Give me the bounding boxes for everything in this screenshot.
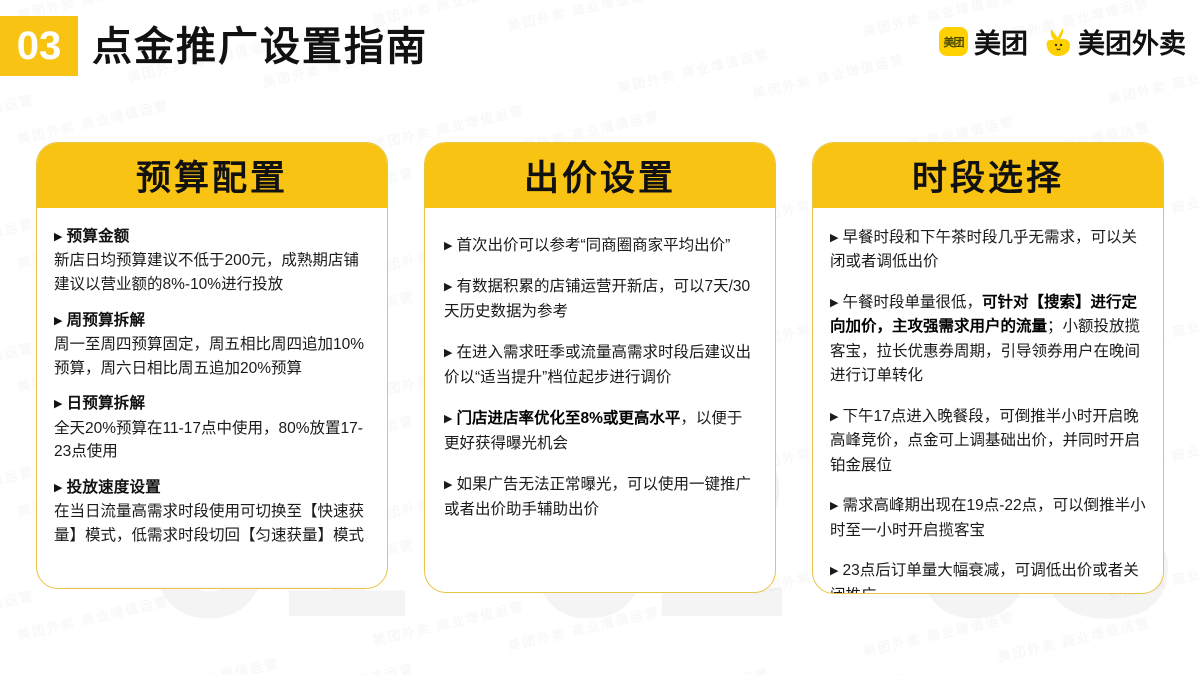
paragraph-text: 如果广告无法正常曝光，可以使用一键推广或者出价助手辅助出价 — [444, 476, 751, 517]
block-heading: ▶投放速度设置 — [54, 477, 370, 499]
block-heading: ▶周预算拆解 — [54, 310, 370, 332]
list-item: ▶早餐时段和下午茶时段几乎无需求，可以关闭或者调低出价 — [830, 226, 1146, 275]
paragraph-text-before: 午餐时段单量很低， — [842, 294, 982, 311]
paragraph-text: 首次出价可以参考“同商圈商家平均出价” — [456, 237, 730, 254]
bullet-triangle-icon: ▶ — [830, 297, 838, 309]
list-item: ▶午餐时段单量很低，可针对【搜索】进行定向加价，主攻强需求用户的流量；小额投放揽… — [830, 291, 1146, 389]
list-item: ▶如果广告无法正常曝光，可以使用一键推广或者出价助手辅助出价 — [444, 473, 756, 522]
list-item: ▶23点后订单量大幅衰减，可调低出价或者关闭推广 — [830, 559, 1146, 594]
list-item: ▶首次出价可以参考“同商圈商家平均出价” — [444, 234, 756, 258]
block-text: 在当日流量高需求时段使用可切换至【快速获量】模式，低需求时段切回【匀速获量】模式 — [54, 500, 370, 547]
list-item: ▶有数据积累的店铺运营开新店，可以7天/30天历史数据为参考 — [444, 275, 756, 324]
card-body: ▶预算金额 新店日均预算建议不低于200元，成熟期店铺建议以营业额的8%-10%… — [37, 208, 387, 557]
list-item: ▶在进入需求旺季或流量高需求时段后建议出价以“适当提升”档位起步进行调价 — [444, 341, 756, 390]
bullet-triangle-icon: ▶ — [54, 231, 63, 243]
bullet-triangle-icon: ▶ — [444, 281, 452, 293]
block-heading: ▶日预算拆解 — [54, 393, 370, 415]
bullet-triangle-icon: ▶ — [54, 398, 63, 410]
list-item: ▶预算金额 新店日均预算建议不低于200元，成熟期店铺建议以营业额的8%-10%… — [54, 226, 370, 297]
meituan-app-icon: 美团 — [939, 27, 968, 56]
card-title: 预算配置 — [136, 150, 288, 201]
block-text: 新店日均预算建议不低于200元，成熟期店铺建议以营业额的8%-10%进行投放 — [54, 249, 370, 296]
paragraph-text: 有数据积累的店铺运营开新店，可以7天/30天历史数据为参考 — [444, 278, 750, 319]
bullet-triangle-icon: ▶ — [444, 240, 452, 252]
meituan-logo: 美团 美团 — [939, 22, 1028, 61]
bullet-triangle-icon: ▶ — [54, 482, 63, 494]
meituan-app-icon-label: 美团 — [944, 34, 964, 50]
card-header: 预算配置 — [36, 142, 388, 208]
page-title: 点金推广设置指南 — [92, 18, 428, 76]
card-title: 时段选择 — [912, 150, 1064, 201]
bullet-triangle-icon: ▶ — [830, 500, 838, 512]
card-header: 时段选择 — [812, 142, 1164, 208]
paragraph-text: 23点后订单量大幅衰减，可调低出价或者关闭推广 — [830, 562, 1139, 594]
bullet-triangle-icon: ▶ — [830, 232, 838, 244]
card-body: ▶首次出价可以参考“同商圈商家平均出价” ▶有数据积累的店铺运营开新店，可以7天… — [425, 208, 775, 532]
list-item: ▶需求高峰期出现在19点-22点，可以倒推半小时至一小时开启揽客宝 — [830, 494, 1146, 543]
bullet-triangle-icon: ▶ — [830, 411, 838, 423]
card-time-slot-selection: 时段选择 ▶早餐时段和下午茶时段几乎无需求，可以关闭或者调低出价 ▶午餐时段单量… — [812, 142, 1164, 594]
meituan-waimai-logo: 美团外卖 — [1046, 22, 1186, 61]
card-body: ▶早餐时段和下午茶时段几乎无需求，可以关闭或者调低出价 ▶午餐时段单量很低，可针… — [813, 208, 1163, 594]
brand-logos: 美团 美团 美团外卖 — [939, 22, 1186, 61]
meituan-waimai-wordmark: 美团外卖 — [1078, 22, 1186, 61]
block-text: 周一至周四预算固定，周五相比周四追加10%预算，周六日相比周五追加20%预算 — [54, 333, 370, 380]
kangaroo-mascot-icon — [1046, 27, 1072, 57]
paragraph-bold: 门店进店率优化至8%或更高水平 — [456, 410, 680, 427]
bullet-triangle-icon: ▶ — [830, 565, 838, 577]
list-item: ▶周预算拆解 周一至周四预算固定，周五相比周四追加10%预算，周六日相比周五追加… — [54, 310, 370, 381]
card-bid-settings: 出价设置 ▶首次出价可以参考“同商圈商家平均出价” ▶有数据积累的店铺运营开新店… — [424, 142, 776, 593]
bullet-triangle-icon: ▶ — [444, 413, 452, 425]
list-item: ▶投放速度设置 在当日流量高需求时段使用可切换至【快速获量】模式，低需求时段切回… — [54, 477, 370, 548]
bullet-triangle-icon: ▶ — [444, 347, 452, 359]
meituan-wordmark: 美团 — [974, 22, 1028, 61]
section-number-badge: 03 — [0, 16, 78, 76]
list-item: ▶下午17点进入晚餐段，可倒推半小时开启晚高峰竞价，点金可上调基础出价，并同时开… — [830, 405, 1146, 478]
card-budget-configuration: 预算配置 ▶预算金额 新店日均预算建议不低于200元，成熟期店铺建议以营业额的8… — [36, 142, 388, 589]
bullet-triangle-icon: ▶ — [444, 479, 452, 491]
paragraph-text: 下午17点进入晚餐段，可倒推半小时开启晚高峰竞价，点金可上调基础出价，并同时开启… — [830, 408, 1140, 474]
paragraph-text: 早餐时段和下午茶时段几乎无需求，可以关闭或者调低出价 — [830, 229, 1137, 270]
paragraph-text: 需求高峰期出现在19点-22点，可以倒推半小时至一小时开启揽客宝 — [830, 497, 1146, 538]
card-header: 出价设置 — [424, 142, 776, 208]
paragraph-text: 在进入需求旺季或流量高需求时段后建议出价以“适当提升”档位起步进行调价 — [444, 344, 751, 385]
section-number: 03 — [17, 24, 62, 69]
list-item: ▶日预算拆解 全天20%预算在11-17点中使用，80%放置17-23点使用 — [54, 393, 370, 464]
block-text: 全天20%预算在11-17点中使用，80%放置17-23点使用 — [54, 417, 370, 464]
block-heading: ▶预算金额 — [54, 226, 370, 248]
card-title: 出价设置 — [524, 150, 676, 201]
bullet-triangle-icon: ▶ — [54, 315, 63, 327]
page-header: 03 点金推广设置指南 美团 美团 美团外卖 — [0, 0, 1200, 96]
list-item: ▶门店进店率优化至8%或更高水平，以便于更好获得曝光机会 — [444, 407, 756, 456]
